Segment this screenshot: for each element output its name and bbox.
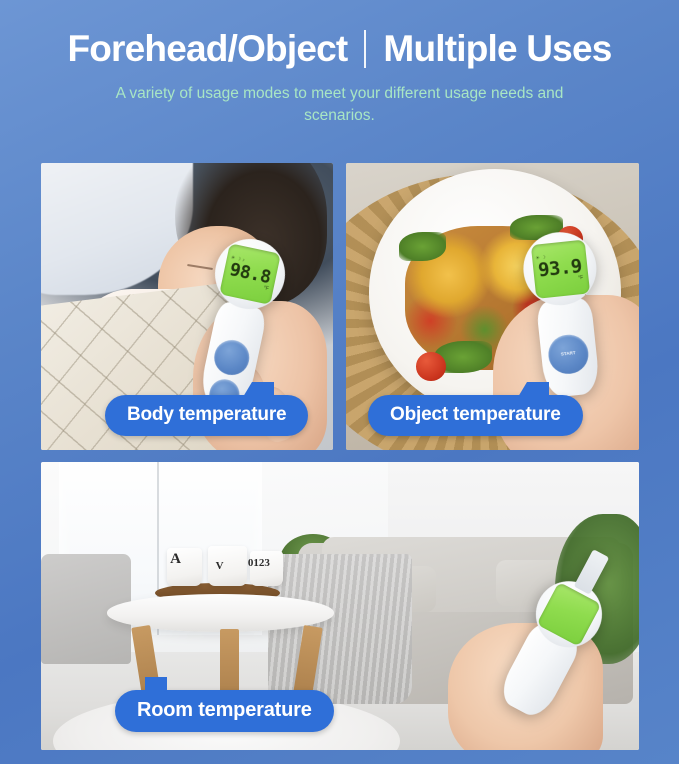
vase-letter-a: A [170,551,181,568]
title-left: Forehead/Object [67,28,347,71]
lcd-unit: °F [263,286,269,292]
title-right: Multiple Uses [383,28,611,71]
badge-body-temperature: Body temperature [105,395,308,436]
top-photo-row: ☀ ☽ ♪ 98.8 °F Body temperature [41,163,639,450]
lcd-display: ☀ ☽ ♪ 98.8 °F [219,243,280,304]
vase-letter-v: V [216,560,224,572]
page-title: Forehead/Object Multiple Uses [0,28,679,71]
badge-room-temperature: Room temperature [115,690,334,732]
throw-blanket [268,554,412,704]
vase-letter-numbers: 0123 [248,557,270,569]
thermometer-head: ☀ ☽ ♪ 98.8 °F [208,232,291,315]
tomato [416,352,445,381]
header-section: Forehead/Object Multiple Uses A variety … [0,0,679,127]
photo-grid: ☀ ☽ ♪ 98.8 °F Body temperature [41,163,639,750]
salad-greens [399,232,446,261]
title-divider-icon [364,30,366,68]
thermometer-head: ☀ ☽ 93.9 °F [519,228,600,309]
panel-room-temperature[interactable]: A V 0123 Room temperature [41,462,639,750]
lcd-unit: °F [578,276,584,282]
lcd-display [536,581,602,647]
badge-object-temperature: Object temperature [368,395,583,436]
lcd-display: ☀ ☽ 93.9 °F [530,239,590,299]
panel-body-temperature[interactable]: ☀ ☽ ♪ 98.8 °F Body temperature [41,163,333,450]
page-subtitle: A variety of usage modes to meet your di… [94,83,586,128]
decor-vase [208,546,247,586]
panel-object-temperature[interactable]: ☀ ☽ 93.9 °F START Object temperature [346,163,639,450]
